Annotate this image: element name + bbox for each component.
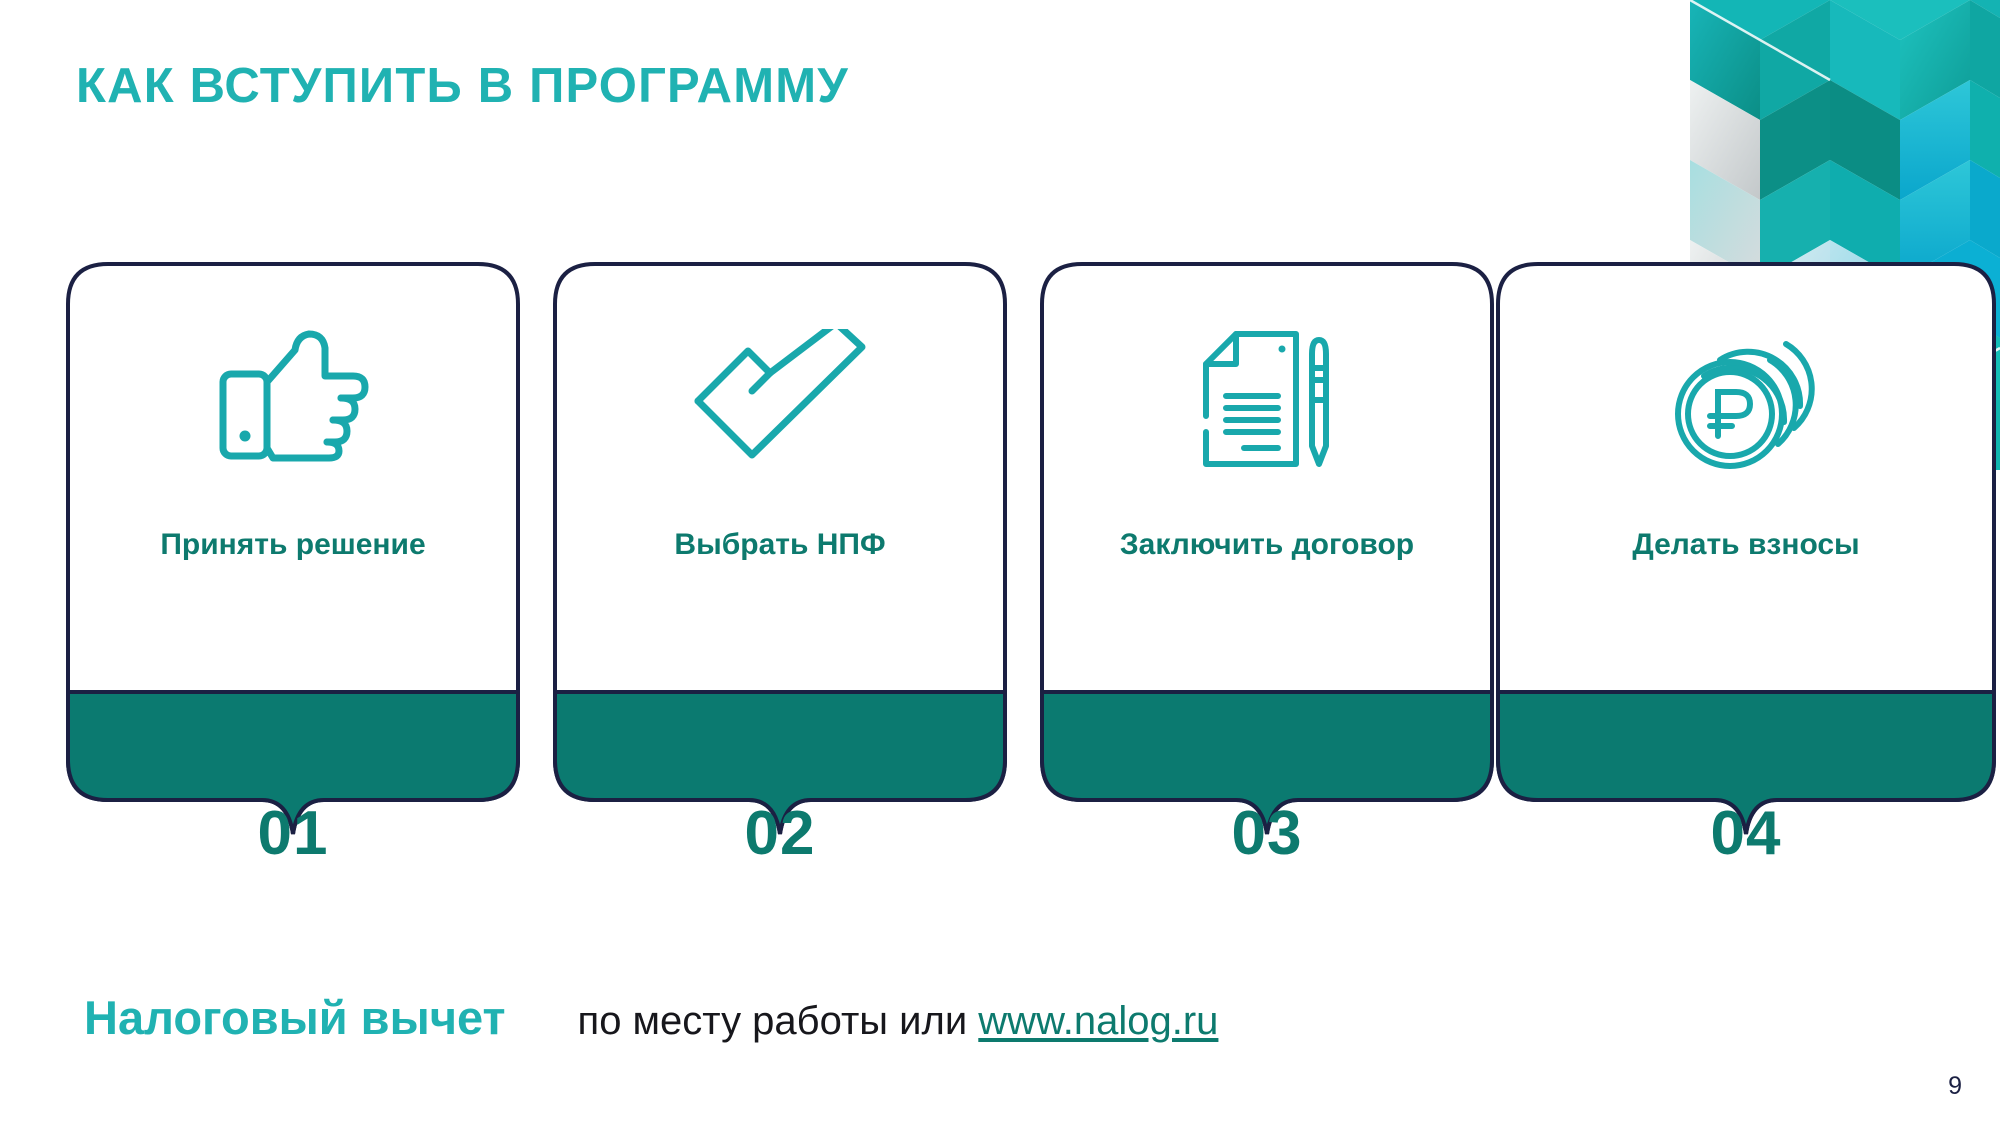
step-card-3-label: Заключить договор bbox=[1042, 528, 1492, 562]
steps-row: Принять решение 01 Выбрать НПФ 02 bbox=[68, 258, 1950, 758]
footer-note-prefix: по месту работы или bbox=[578, 999, 968, 1043]
step-card-4-number: 04 bbox=[1498, 798, 1994, 869]
tax-deduction-headline: Налоговый вычет bbox=[84, 990, 506, 1045]
step-card-1-number: 01 bbox=[68, 798, 518, 869]
step-card-2-number: 02 bbox=[555, 798, 1005, 869]
thumbs-up-icon bbox=[68, 304, 518, 494]
footer-row: Налоговый вычет по месту работы или www.… bbox=[84, 990, 1218, 1045]
step-card-3-number: 03 bbox=[1042, 798, 1492, 869]
step-card-2[interactable]: Выбрать НПФ 02 bbox=[555, 258, 1005, 758]
step-card-4[interactable]: Делать взносы 04 bbox=[1498, 258, 1994, 758]
page-number: 9 bbox=[1948, 1072, 1962, 1101]
slide-root: КАК ВСТУПИТЬ В ПРОГРАММУ Принять решение… bbox=[0, 0, 2000, 1125]
step-card-2-label: Выбрать НПФ bbox=[555, 528, 1005, 562]
page-title: КАК ВСТУПИТЬ В ПРОГРАММУ bbox=[76, 58, 849, 114]
footer-note: по месту работы или www.nalog.ru bbox=[578, 999, 1219, 1044]
document-pen-icon bbox=[1042, 304, 1492, 494]
checkmark-icon bbox=[555, 304, 1005, 494]
step-card-4-label: Делать взносы bbox=[1498, 528, 1994, 562]
step-card-1-label: Принять решение bbox=[68, 528, 518, 562]
nalog-link[interactable]: www.nalog.ru bbox=[978, 999, 1218, 1043]
step-card-3[interactable]: Заключить договор 03 bbox=[1042, 258, 1492, 758]
step-card-1[interactable]: Принять решение 01 bbox=[68, 258, 518, 758]
ruble-coins-icon bbox=[1498, 304, 1994, 494]
